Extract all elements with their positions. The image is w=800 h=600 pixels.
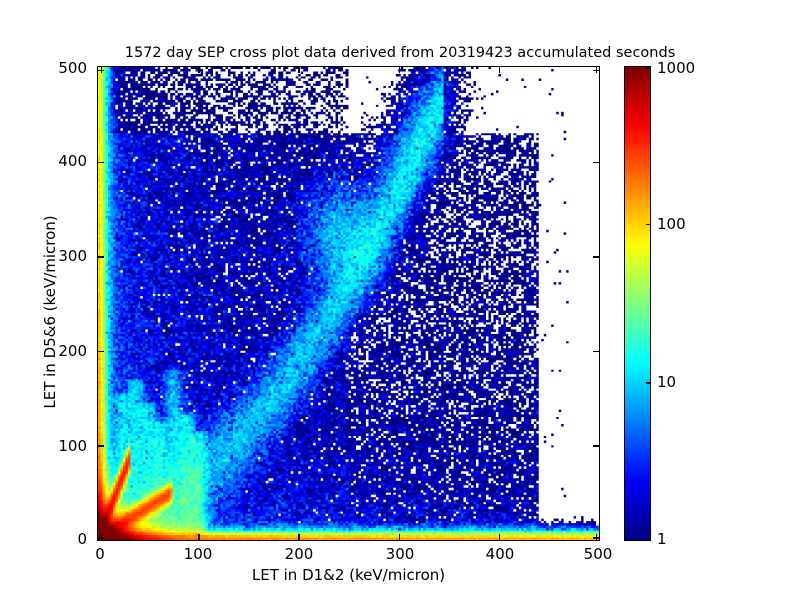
y-tick-right-300 — [593, 256, 599, 257]
y-tick-200 — [98, 351, 104, 352]
x-ticklabel-400: 400 — [486, 545, 515, 563]
x-ticklabel-200: 200 — [285, 545, 314, 563]
x-tick-bottom-200 — [298, 534, 299, 540]
y-tick-300 — [98, 256, 104, 257]
y-tick-100 — [98, 445, 104, 446]
colorbar-gradient — [624, 66, 651, 541]
y-tick-right-400 — [593, 162, 599, 163]
x-ticklabel-100: 100 — [184, 545, 213, 563]
x-tick-bottom-100 — [198, 534, 199, 540]
plot-axes — [97, 66, 600, 541]
x-tick-bottom-300 — [399, 534, 400, 540]
x-axis-label: LET in D1&2 (keV/micron) — [97, 566, 600, 584]
x-ticklabel-500: 500 — [584, 545, 613, 563]
y-tick-right-0 — [593, 537, 599, 538]
y-tick-right-100 — [593, 445, 599, 446]
colorbar-ticklabel-100: 100 — [657, 215, 686, 233]
x-ticklabel-0: 0 — [95, 545, 105, 563]
x-ticklabel-300: 300 — [386, 545, 415, 563]
x-tick-300 — [399, 67, 400, 73]
x-tick-400 — [499, 67, 500, 73]
y-ticklabel-0: 0 — [43, 530, 87, 548]
y-axis-label: LET in D5&6 (keV/micron) — [41, 112, 59, 512]
x-tick-bottom-400 — [499, 534, 500, 540]
colorbar-tick-100 — [646, 224, 651, 225]
colorbar-tick-1 — [646, 540, 651, 541]
y-tick-right-200 — [593, 351, 599, 352]
y-tick-500 — [98, 70, 104, 71]
x-tick-200 — [298, 67, 299, 73]
colorbar: 1000 100 10 1 — [624, 66, 651, 541]
y-ticklabel-500: 500 — [43, 59, 87, 77]
y-tick-right-500 — [593, 70, 599, 71]
y-tick-400 — [98, 162, 104, 163]
density-plot-canvas — [98, 67, 599, 540]
colorbar-tick-1000 — [646, 67, 651, 68]
colorbar-ticklabel-1: 1 — [657, 530, 667, 548]
colorbar-tick-10 — [646, 382, 651, 383]
colorbar-canvas — [625, 67, 650, 540]
figure: 1572 day SEP cross plot data derived fro… — [0, 0, 800, 600]
x-tick-100 — [198, 67, 199, 73]
colorbar-ticklabel-1000: 1000 — [657, 59, 695, 77]
colorbar-ticklabel-10: 10 — [657, 373, 676, 391]
y-tick-0 — [98, 537, 104, 538]
